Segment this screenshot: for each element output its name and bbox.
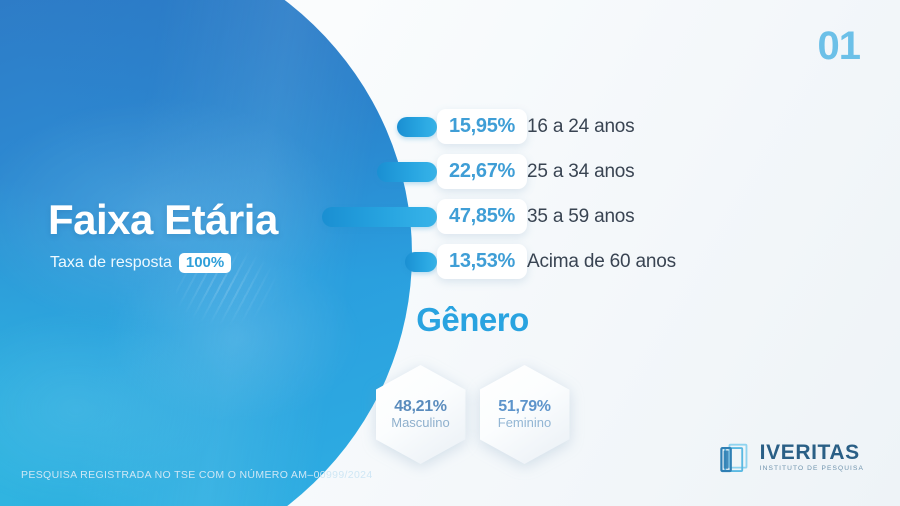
- overlapping-rectangles-icon: [718, 440, 752, 474]
- bar-track: [0, 104, 437, 149]
- hexagon-value: 51,79%: [498, 398, 550, 416]
- bar-category-label: 25 a 34 anos: [527, 161, 634, 183]
- bar-value-pill: 22,67%: [437, 154, 527, 189]
- bar-row: 15,95% 16 a 24 anos: [0, 104, 900, 149]
- logo-text-block: IVERITAS INSTITUTO DE PESQUISA: [760, 442, 864, 473]
- bar-fill: [322, 207, 437, 227]
- hexagon-shape: 51,79% Feminino: [480, 365, 570, 464]
- hexagon-shape: 48,21% Masculino: [376, 365, 466, 464]
- bar-category-label: 16 a 24 anos: [527, 116, 634, 138]
- bar-value-pill: 15,95%: [437, 109, 527, 144]
- brand-logo: IVERITAS INSTITUTO DE PESQUISA: [718, 440, 864, 474]
- logo-tagline: INSTITUTO DE PESQUISA: [760, 466, 864, 473]
- gender-section-title: Gênero: [0, 303, 900, 336]
- hexagon-feminino: 51,79% Feminino: [480, 365, 570, 464]
- registration-footer-note: PESQUISA REGISTRADA NO TSE COM O NÚMERO …: [21, 469, 373, 481]
- age-bar-chart: 15,95% 16 a 24 anos 22,67% 25 a 34 anos …: [0, 104, 900, 284]
- bar-fill: [377, 162, 437, 182]
- slide-number: 01: [818, 26, 861, 66]
- bar-row: 47,85% 35 a 59 anos: [0, 194, 900, 239]
- bar-category-label: 35 a 59 anos: [527, 206, 634, 228]
- hexagon-label: Feminino: [498, 415, 551, 431]
- bar-value-pill: 13,53%: [437, 244, 527, 279]
- hexagon-value: 48,21%: [394, 398, 446, 416]
- bar-track: [0, 194, 437, 239]
- slide-canvas: 01 Faixa Etária Taxa de resposta 100% 15…: [0, 0, 900, 506]
- hexagon-label: Masculino: [391, 415, 450, 431]
- logo-name: IVERITAS: [760, 442, 864, 463]
- bar-track: [0, 239, 437, 284]
- bar-value-pill: 47,85%: [437, 199, 527, 234]
- bar-track: [0, 149, 437, 194]
- bar-fill: [405, 252, 437, 272]
- bar-category-label: Acima de 60 anos: [527, 251, 676, 273]
- bar-row: 13,53% Acima de 60 anos: [0, 239, 900, 284]
- hexagon-masculino: 48,21% Masculino: [376, 365, 466, 464]
- bar-fill: [397, 117, 437, 137]
- bar-row: 22,67% 25 a 34 anos: [0, 149, 900, 194]
